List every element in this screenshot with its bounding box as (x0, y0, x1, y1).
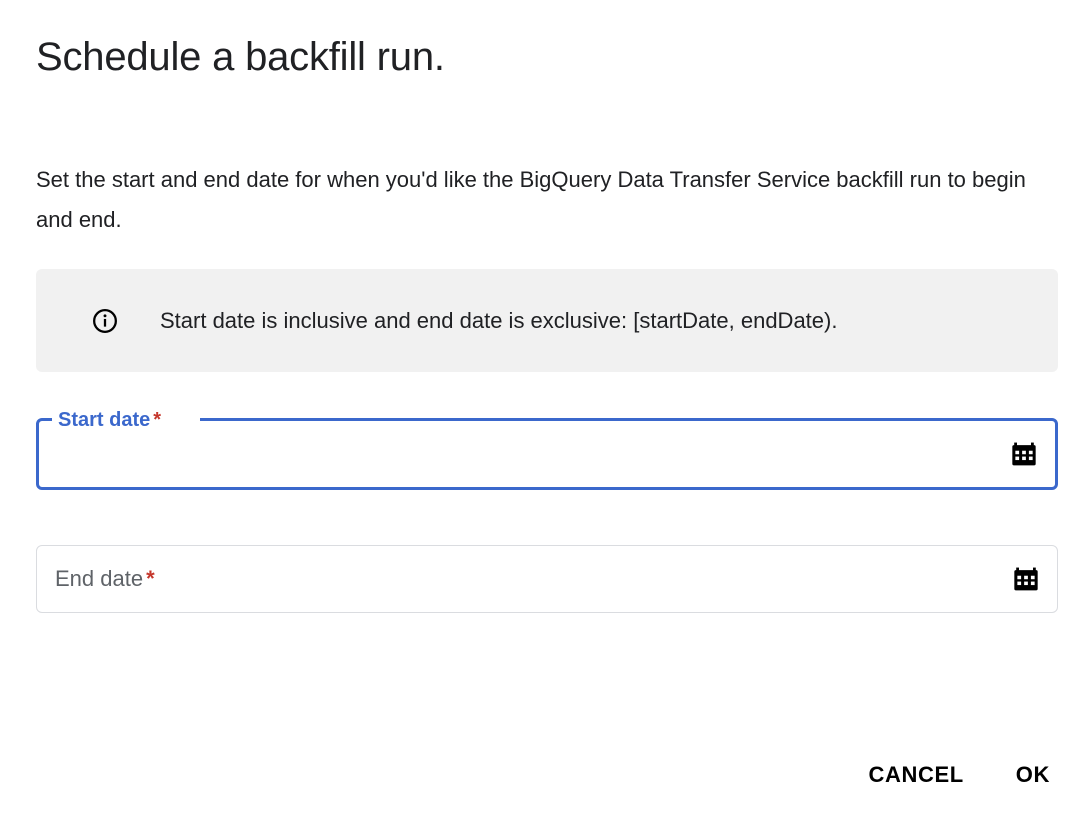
info-banner-text: Start date is inclusive and end date is … (160, 306, 837, 336)
start-date-label: Start date* (58, 407, 161, 433)
schedule-backfill-dialog: Schedule a backfill run. Set the start a… (0, 0, 1088, 816)
required-asterisk: * (153, 409, 161, 431)
page-title: Schedule a backfill run. (36, 32, 445, 82)
dialog-description: Set the start and end date for when you'… (36, 160, 1058, 240)
end-date-placeholder-text: End date (55, 566, 143, 591)
start-date-calendar-icon[interactable] (1009, 439, 1039, 469)
dialog-actions: CANCEL OK (855, 752, 1064, 798)
info-circle-icon (92, 308, 118, 334)
end-date-placeholder: End date* (55, 564, 155, 594)
start-date-label-text: Start date (58, 409, 150, 431)
start-date-field[interactable]: Start date* (36, 418, 1058, 490)
cancel-button[interactable]: CANCEL (855, 752, 978, 798)
ok-button[interactable]: OK (1002, 752, 1064, 798)
end-date-field[interactable]: End date* (36, 545, 1058, 613)
required-asterisk: * (146, 566, 155, 591)
end-date-calendar-icon[interactable] (1011, 564, 1041, 594)
info-banner: Start date is inclusive and end date is … (36, 269, 1058, 372)
